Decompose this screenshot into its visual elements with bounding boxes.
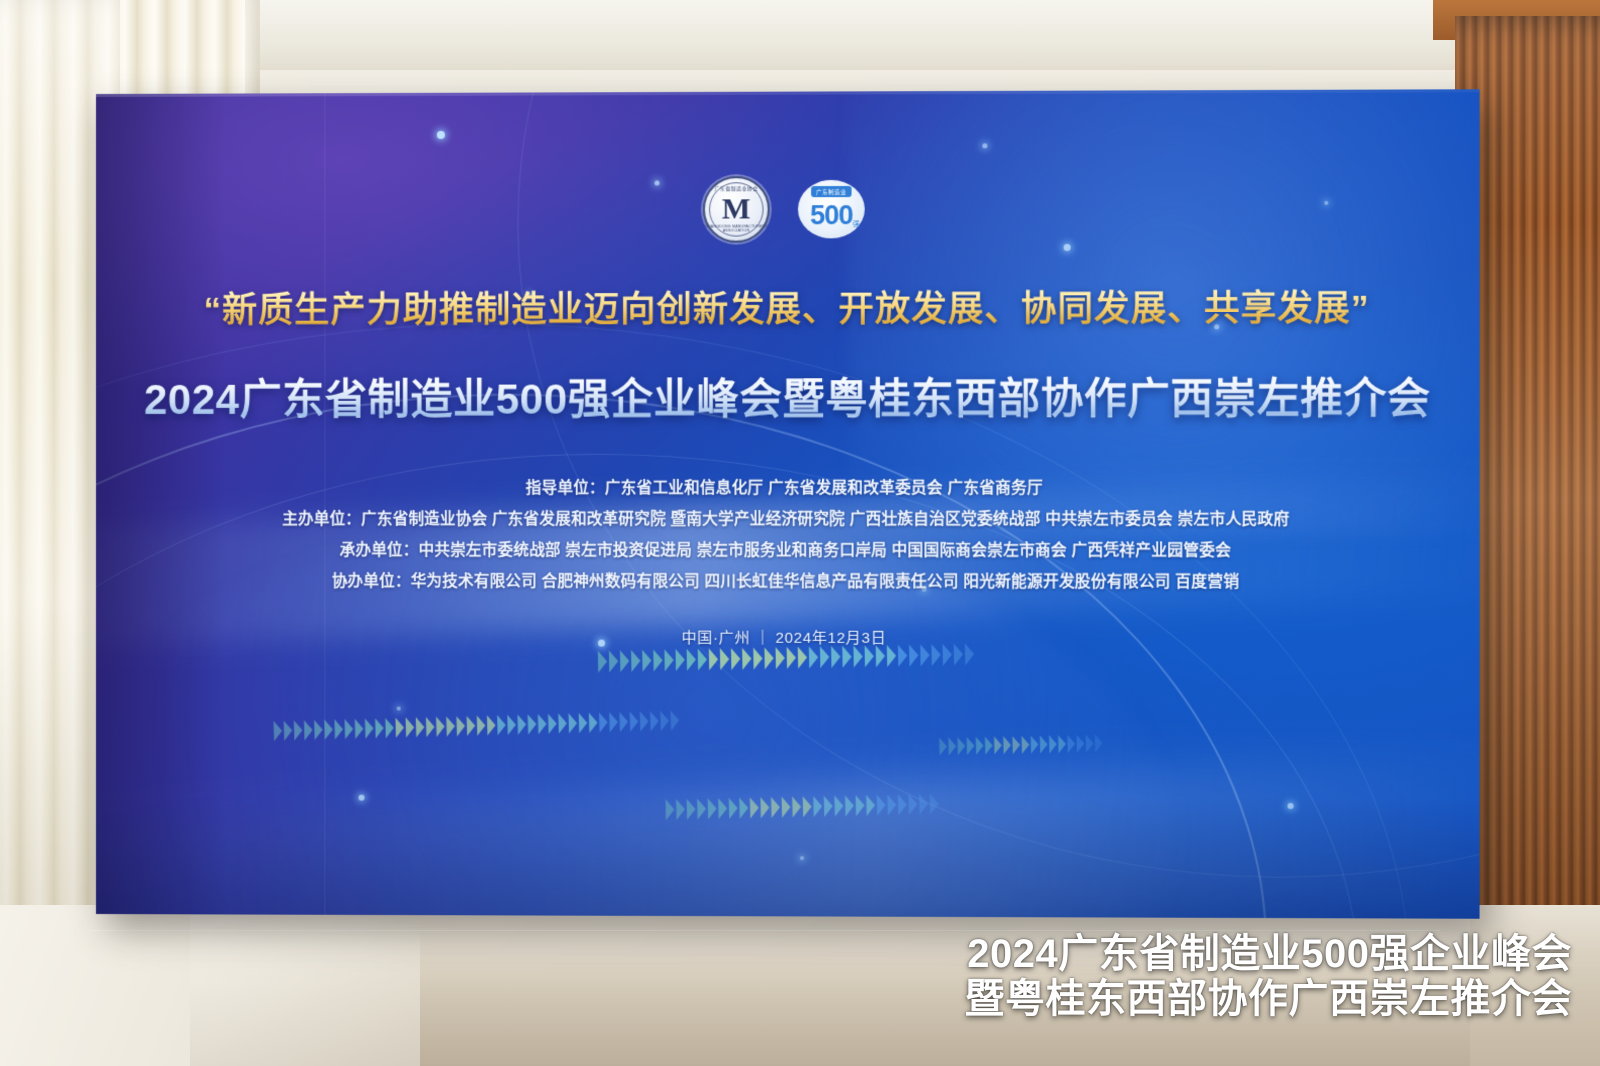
particle bbox=[397, 707, 401, 711]
association-seal-logo: 广东省制造业协会 M GUANGDONG MANUFACTURERS ASSOC… bbox=[703, 176, 770, 243]
organizer-line-guidance: 指导单位：广东省工业和信息化厅 广东省发展和改革委员会 广东省商务厅 bbox=[526, 476, 1043, 498]
event-main-title: 2024广东省制造业500强企业峰会暨粤桂东西部协作广西崇左推介会 bbox=[96, 364, 1480, 427]
particle bbox=[437, 131, 445, 139]
organizer-list: 指导单位：广东省工业和信息化厅 广东省发展和改革委员会 广东省商务厅 主办单位：… bbox=[96, 476, 1480, 592]
particle bbox=[982, 143, 987, 148]
badge-cap-text: 广东制造业 bbox=[811, 186, 852, 197]
organizer-line-cohost: 协办单位：华为技术有限公司 合肥神州数码有限公司 四川长虹佳华信息产品有限责任公… bbox=[332, 569, 1239, 592]
particle bbox=[1064, 244, 1071, 251]
floor-seam-line bbox=[90, 930, 1440, 931]
caption-line-1: 2024广东省制造业500强企业峰会 bbox=[965, 932, 1573, 977]
particle bbox=[359, 795, 365, 801]
logo-row: 广东省制造业协会 M GUANGDONG MANUFACTURERS ASSOC… bbox=[96, 174, 1480, 244]
caption-overlay: 2024广东省制造业500强企业峰会 暨粤桂东西部协作广西崇左推介会 bbox=[965, 932, 1573, 1022]
caption-line-2: 暨粤桂东西部协作广西崇左推介会 bbox=[965, 977, 1573, 1022]
badge-suffix: 强 bbox=[853, 219, 860, 229]
seal-bottom-text: GUANGDONG MANUFACTURERS ASSOCIATION bbox=[705, 224, 768, 232]
organizer-line-organizer: 承办单位：中共崇左市委统战部 崇左市投资促进局 崇左市服务业和商务口岸局 中国国… bbox=[340, 538, 1232, 560]
particle bbox=[1288, 803, 1294, 809]
seal-top-text: 广东省制造业协会 bbox=[705, 185, 768, 192]
badge-number: 500 bbox=[810, 202, 853, 229]
event-slogan: “新质生产力助推制造业迈向创新发展、开放发展、协同发展、共享发展” bbox=[96, 279, 1480, 333]
location-date: 中国·广州 ｜ 2024年12月3日 bbox=[96, 626, 1480, 649]
board-bottom-shadow bbox=[96, 794, 1480, 919]
photo-scene: 广东省制造业协会 M GUANGDONG MANUFACTURERS ASSOC… bbox=[0, 0, 1600, 1066]
organizer-line-host: 主办单位：广东省制造业协会 广东省发展和改革研究院 暨南大学产业经济研究院 广西… bbox=[282, 507, 1289, 529]
event-backdrop-board: 广东省制造业协会 M GUANGDONG MANUFACTURERS ASSOC… bbox=[96, 89, 1480, 919]
top-500-badge-logo: 广东制造业 500 强 bbox=[798, 180, 865, 239]
particle bbox=[800, 856, 804, 860]
